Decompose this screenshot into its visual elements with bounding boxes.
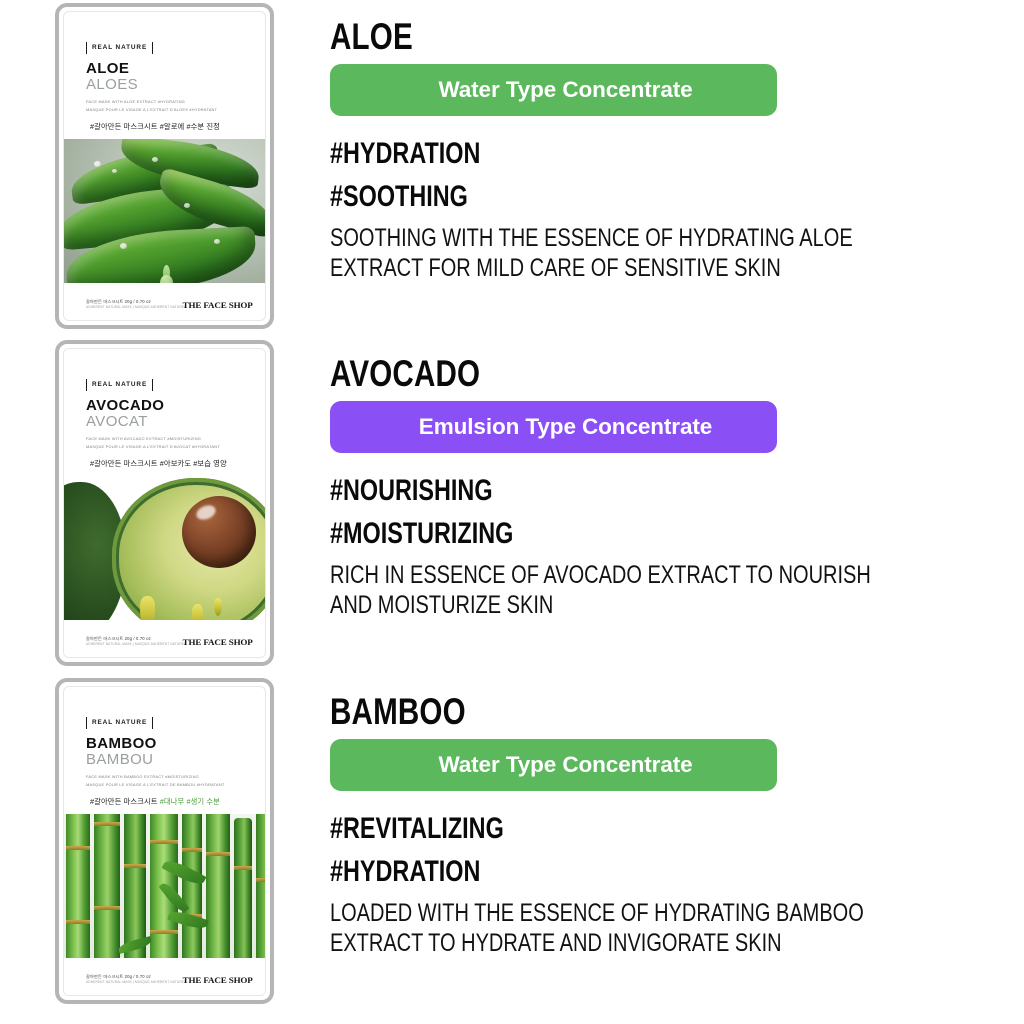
bamboo-cane-icon bbox=[124, 814, 146, 958]
product-row: REAL NATURE ALOE ALOES FACE MASK WITH AL… bbox=[0, 3, 1024, 336]
hashtag[interactable]: #SOOTHING bbox=[330, 175, 907, 218]
package-desc-fr: MASQUE POUR LE VISAGE A L'EXTRAIT DE BAM… bbox=[86, 781, 265, 788]
package-name-fr: BAMBOU bbox=[86, 752, 265, 769]
badge-label: Water Type Concentrate bbox=[438, 752, 692, 778]
package-inner: REAL NATURE ALOE ALOES FACE MASK WITH AL… bbox=[63, 11, 266, 321]
product-info-aloe: ALOE Water Type Concentrate #HYDRATION #… bbox=[274, 3, 1024, 336]
dew-drop-icon bbox=[184, 203, 190, 208]
product-description: SOOTHING WITH THE ESSENCE OF HYDRATING A… bbox=[330, 223, 922, 283]
hashtag[interactable]: #REVITALIZING bbox=[330, 807, 907, 850]
product-title: ALOE bbox=[330, 19, 922, 55]
description-line: SOOTHING WITH THE ESSENCE OF HYDRATING A… bbox=[330, 223, 922, 253]
hashtag[interactable]: #MOISTURIZING bbox=[330, 512, 907, 555]
product-title: BAMBOO bbox=[330, 694, 922, 730]
dew-drop-icon bbox=[120, 243, 127, 249]
package-inner: REAL NATURE AVOCADO AVOCAT FACE MASK WIT… bbox=[63, 348, 266, 658]
package-frame: REAL NATURE AVOCADO AVOCAT FACE MASK WIT… bbox=[55, 340, 274, 666]
avocado-pit-icon bbox=[182, 496, 256, 568]
hashtag[interactable]: #HYDRATION bbox=[330, 132, 907, 175]
package-footer: 갈아만든 마스크시트 20g / 0.70 oz ADHERENT NATURA… bbox=[64, 283, 265, 320]
product-description: RICH IN ESSENCE OF AVOCADO EXTRACT TO NO… bbox=[330, 560, 922, 620]
real-nature-label: REAL NATURE bbox=[86, 42, 153, 54]
package-header: REAL NATURE BAMBOO BAMBOU FACE MASK WITH… bbox=[64, 687, 265, 807]
package-footer-sub: ADHERENT NATURAL MASK | MASQUE ADHERENT … bbox=[86, 305, 186, 310]
concentrate-type-badge[interactable]: Water Type Concentrate bbox=[330, 64, 777, 116]
dew-drop-icon bbox=[94, 161, 101, 167]
package-desc-en: FACE MASK WITH ALOE EXTRACT #HYDRATING bbox=[86, 98, 265, 105]
package-korean-text: #갈아만든 마스크시트 #알로에 #수분 진정 bbox=[90, 122, 265, 132]
product-row: REAL NATURE BAMBOO BAMBOU FACE MASK WITH… bbox=[0, 678, 1024, 1011]
package-image-bamboo[interactable]: REAL NATURE BAMBOO BAMBOU FACE MASK WITH… bbox=[0, 678, 274, 1011]
package-footer-text: 갈아만든 마스크시트 20g / 0.70 oz ADHERENT NATURA… bbox=[86, 974, 186, 985]
package-korean-main: #갈아만든 마스크시트 #아보카도 #보습 영양 bbox=[90, 459, 227, 468]
package-desc: FACE MASK WITH BAMBOO EXTRACT #MOISTURIZ… bbox=[86, 773, 265, 787]
brand-logo: THE FACE SHOP bbox=[183, 975, 253, 985]
bamboo-cane-icon bbox=[256, 814, 265, 958]
hashtag[interactable]: #HYDRATION bbox=[330, 850, 907, 893]
concentrate-type-badge[interactable]: Emulsion Type Concentrate bbox=[330, 401, 777, 453]
package-name-fr: ALOES bbox=[86, 77, 265, 94]
product-list-page: REAL NATURE ALOE ALOES FACE MASK WITH AL… bbox=[0, 0, 1024, 1024]
oil-drip-icon bbox=[140, 596, 155, 620]
real-nature-label: REAL NATURE bbox=[86, 379, 153, 391]
package-frame: REAL NATURE BAMBOO BAMBOU FACE MASK WITH… bbox=[55, 678, 274, 1004]
package-korean-text: #갈아만든 마스크시트 #대나무 #생기 수분 bbox=[90, 797, 265, 807]
dew-drop-icon bbox=[152, 157, 158, 162]
oil-drip-icon bbox=[192, 604, 203, 620]
description-line: LOADED WITH THE ESSENCE OF HYDRATING BAM… bbox=[330, 898, 922, 928]
dew-drop-icon bbox=[214, 239, 220, 244]
aloe-photo bbox=[64, 139, 265, 283]
package-korean-green: #대나무 #생기 수분 bbox=[160, 797, 220, 806]
description-line: EXTRACT FOR MILD CARE OF SENSITIVE SKIN bbox=[330, 253, 922, 283]
product-description: LOADED WITH THE ESSENCE OF HYDRATING BAM… bbox=[330, 898, 922, 958]
product-hashtags: #HYDRATION #SOOTHING bbox=[330, 132, 907, 218]
package-desc-fr: MASQUE POUR LE VISAGE A L'EXTRAIT D'AVOC… bbox=[86, 443, 265, 450]
brand-logo: THE FACE SHOP bbox=[183, 637, 253, 647]
package-korean-main: #갈아만든 마스크시트 bbox=[90, 797, 160, 806]
concentrate-type-badge[interactable]: Water Type Concentrate bbox=[330, 739, 777, 791]
bamboo-cane-icon bbox=[206, 814, 230, 958]
package-name-fr: AVOCAT bbox=[86, 414, 265, 431]
product-title: AVOCADO bbox=[330, 356, 922, 392]
brand-logo: THE FACE SHOP bbox=[183, 300, 253, 310]
bamboo-cane-icon bbox=[66, 814, 90, 958]
dew-drop-icon bbox=[112, 169, 117, 173]
product-info-bamboo: BAMBOO Water Type Concentrate #REVITALIZ… bbox=[274, 678, 1024, 1011]
description-line: EXTRACT TO HYDRATE AND INVIGORATE SKIN bbox=[330, 928, 922, 958]
bamboo-cane-icon bbox=[234, 818, 252, 958]
bamboo-photo bbox=[64, 814, 265, 958]
package-korean-text: #갈아만든 마스크시트 #아보카도 #보습 영양 bbox=[90, 459, 265, 469]
package-footer-sub: ADHERENT NATURAL MASK | MASQUE ADHERENT … bbox=[86, 642, 186, 647]
product-hashtags: #REVITALIZING #HYDRATION bbox=[330, 807, 907, 893]
bamboo-cane-icon bbox=[182, 814, 202, 958]
package-image-avocado[interactable]: REAL NATURE AVOCADO AVOCAT FACE MASK WIT… bbox=[0, 340, 274, 673]
package-footer-sub: ADHERENT NATURAL MASK | MASQUE ADHERENT … bbox=[86, 980, 186, 985]
package-inner: REAL NATURE BAMBOO BAMBOU FACE MASK WITH… bbox=[63, 686, 266, 996]
package-footer-text: 갈아만든 마스크시트 20g / 0.70 oz ADHERENT NATURA… bbox=[86, 636, 186, 647]
badge-label: Water Type Concentrate bbox=[438, 77, 692, 103]
package-footer: 갈아만든 마스크시트 20g / 0.70 oz ADHERENT NATURA… bbox=[64, 620, 265, 657]
hashtag[interactable]: #NOURISHING bbox=[330, 469, 907, 512]
package-header: REAL NATURE ALOE ALOES FACE MASK WITH AL… bbox=[64, 12, 265, 132]
real-nature-label: REAL NATURE bbox=[86, 717, 153, 729]
package-desc-en: FACE MASK WITH AVOCADO EXTRACT #MOISTURI… bbox=[86, 435, 265, 442]
badge-label: Emulsion Type Concentrate bbox=[419, 414, 712, 440]
product-row: REAL NATURE AVOCADO AVOCAT FACE MASK WIT… bbox=[0, 340, 1024, 673]
product-hashtags: #NOURISHING #MOISTURIZING bbox=[330, 469, 907, 555]
product-info-avocado: AVOCADO Emulsion Type Concentrate #NOURI… bbox=[274, 340, 1024, 673]
package-desc-en: FACE MASK WITH BAMBOO EXTRACT #MOISTURIZ… bbox=[86, 773, 265, 780]
package-frame: REAL NATURE ALOE ALOES FACE MASK WITH AL… bbox=[55, 3, 274, 329]
description-line: AND MOISTURIZE SKIN bbox=[330, 590, 922, 620]
package-desc: FACE MASK WITH AVOCADO EXTRACT #MOISTURI… bbox=[86, 435, 265, 449]
package-image-aloe[interactable]: REAL NATURE ALOE ALOES FACE MASK WITH AL… bbox=[0, 3, 274, 336]
avocado-photo bbox=[64, 476, 265, 620]
package-header: REAL NATURE AVOCADO AVOCAT FACE MASK WIT… bbox=[64, 349, 265, 469]
package-footer: 갈아만든 마스크시트 20g / 0.70 oz ADHERENT NATURA… bbox=[64, 958, 265, 995]
package-footer-text: 갈아만든 마스크시트 20g / 0.70 oz ADHERENT NATURA… bbox=[86, 299, 186, 310]
description-line: RICH IN ESSENCE OF AVOCADO EXTRACT TO NO… bbox=[330, 560, 922, 590]
package-desc-fr: MASQUE POUR LE VISAGE A L'EXTRAIT D'ALOE… bbox=[86, 106, 265, 113]
package-korean-main: #갈아만든 마스크시트 #알로에 #수분 진정 bbox=[90, 122, 220, 131]
bamboo-cane-icon bbox=[94, 814, 120, 958]
package-desc: FACE MASK WITH ALOE EXTRACT #HYDRATING M… bbox=[86, 98, 265, 112]
